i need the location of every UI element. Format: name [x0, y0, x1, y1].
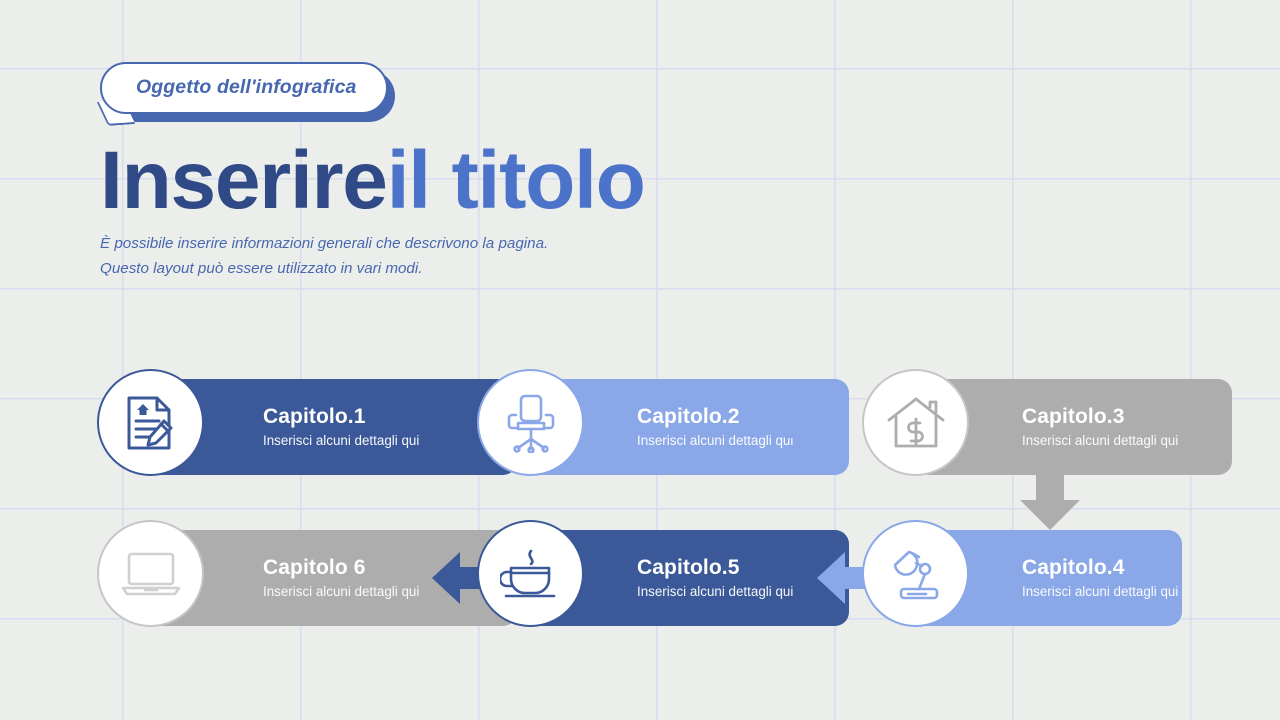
page-subtitle: È possibile inserire informazioni genera…	[100, 231, 860, 281]
icon-circle-chapter-6	[97, 520, 204, 627]
card-title-chapter-2: Capitolo.2	[637, 405, 740, 428]
card-title-chapter-6: Capitolo 6	[263, 556, 366, 579]
coffee-cup-icon	[500, 546, 562, 602]
card-subtitle-chapter-3: Inserisci alcuni dettagli qui	[1022, 434, 1178, 449]
icon-circle-chapter-3	[862, 369, 969, 476]
page-title-part-2: il titolo	[387, 135, 645, 226]
card-subtitle-chapter-6: Inserisci alcuni dettagli qui	[263, 585, 419, 600]
card-title-chapter-3: Capitolo.3	[1022, 405, 1125, 428]
icon-circle-chapter-2	[477, 369, 584, 476]
infographic-subject-badge: Oggetto dell'infografica	[100, 62, 388, 114]
icon-circle-chapter-5	[477, 520, 584, 627]
header-block: Oggetto dell'infografica Inserireil tito…	[100, 62, 860, 281]
icon-circle-chapter-4	[862, 520, 969, 627]
flow-row-bottom: Capitolo 6 Inserisci alcuni dettagli qui	[0, 530, 1280, 626]
page-subtitle-line-2: Questo layout può essere utilizzato in v…	[100, 256, 860, 281]
card-subtitle-chapter-5: Inserisci alcuni dettagli qui	[637, 585, 793, 600]
card-subtitle-chapter-1: Inserisci alcuni dettagli qui	[263, 434, 419, 449]
card-title-chapter-5: Capitolo.5	[637, 556, 740, 579]
badge-body: Oggetto dell'infografica	[100, 62, 388, 114]
page-subtitle-line-1: È possibile inserire informazioni genera…	[100, 231, 860, 256]
badge-label: Oggetto dell'infografica	[136, 76, 356, 98]
card-title-chapter-4: Capitolo.4	[1022, 556, 1125, 579]
laptop-icon	[120, 550, 182, 598]
office-chair-icon	[504, 393, 558, 453]
arrow-right-after-chapter-2	[785, 397, 845, 457]
card-title-chapter-1: Capitolo.1	[263, 405, 366, 428]
house-dollar-icon	[886, 396, 946, 450]
desk-lamp-icon	[886, 547, 946, 601]
card-subtitle-chapter-4: Inserisci alcuni dettagli qui	[1022, 585, 1178, 600]
flow-row-top: Capitolo.1 Inserisci alcuni dettagli qui	[0, 379, 1280, 475]
page-title-part-1: Inserire	[100, 135, 387, 226]
arrow-down-after-chapter-3	[1018, 470, 1082, 532]
document-pencil-icon	[123, 394, 179, 452]
page-title: Inserireil titolo	[100, 140, 860, 222]
icon-circle-chapter-1	[97, 369, 204, 476]
card-subtitle-chapter-2: Inserisci alcuni dettagli qui	[637, 434, 793, 449]
